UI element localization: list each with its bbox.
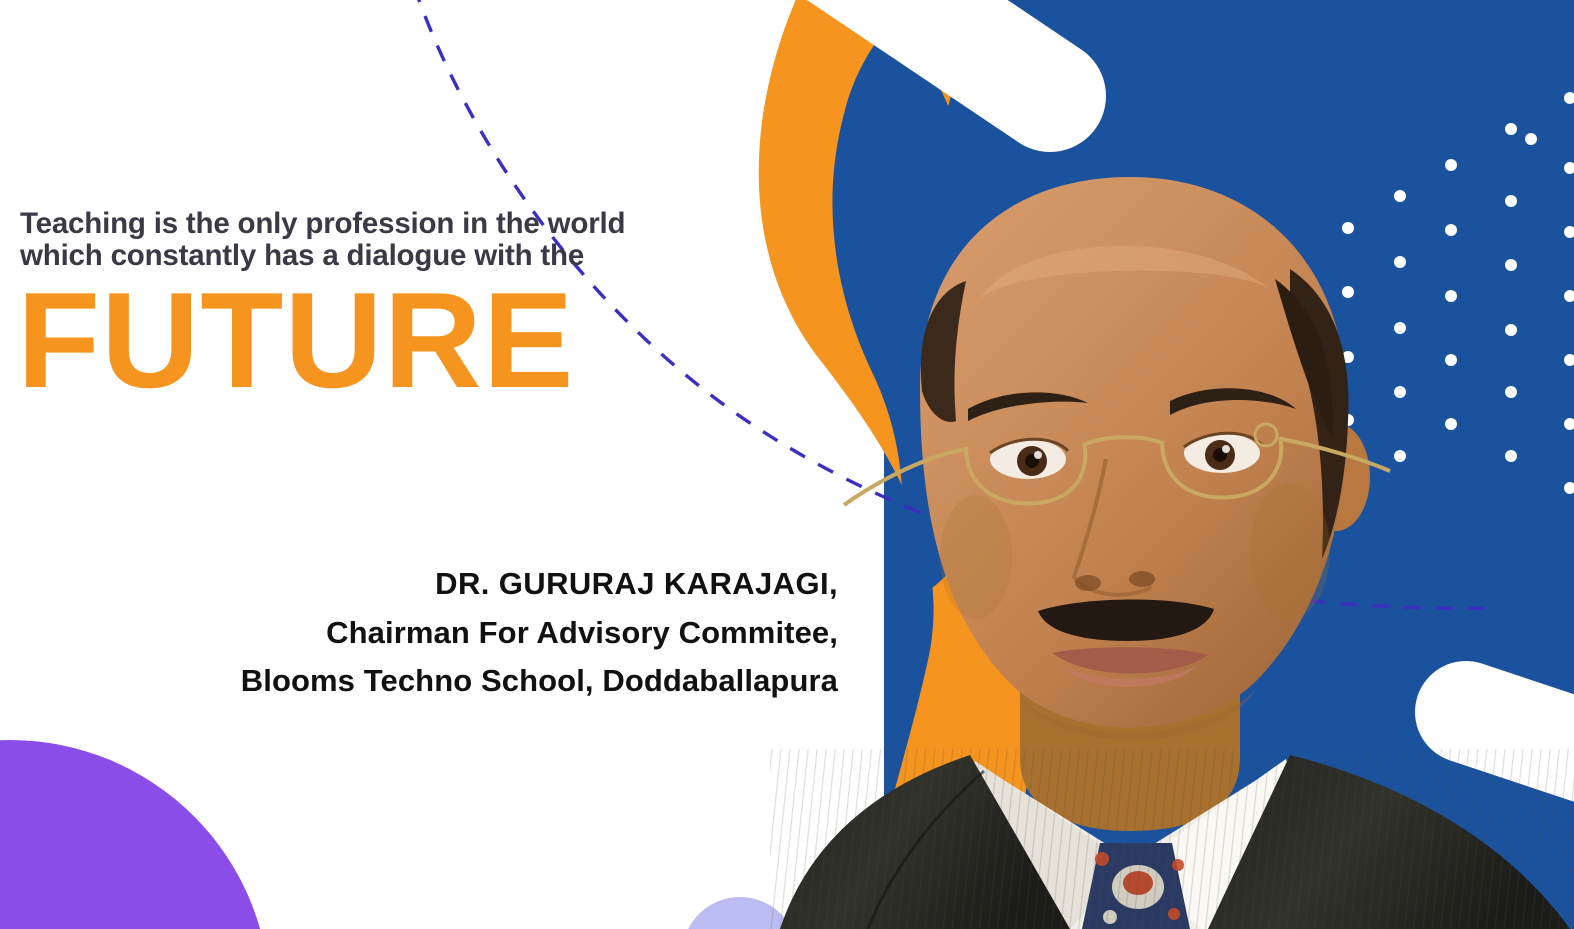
quote-text: Teaching is the only profession in the w… bbox=[20, 208, 740, 272]
avatar bbox=[770, 159, 1574, 929]
attribution-block: DR. GURURAJ KARAJAGI, Chairman For Advis… bbox=[0, 560, 838, 706]
speaker-name: DR. GURURAJ KARAJAGI, bbox=[0, 560, 838, 609]
text-content-column: Teaching is the only profession in the w… bbox=[0, 0, 880, 929]
speaker-role: Chairman For Advisory Commitee, bbox=[0, 609, 838, 658]
poster-canvas: Teaching is the only profession in the w… bbox=[0, 0, 1574, 929]
speaker-organization: Blooms Techno School, Doddaballapura bbox=[0, 657, 838, 706]
headline-future: FUTURE bbox=[17, 272, 575, 408]
quote-line-1: Teaching is the only profession in the w… bbox=[20, 207, 625, 240]
